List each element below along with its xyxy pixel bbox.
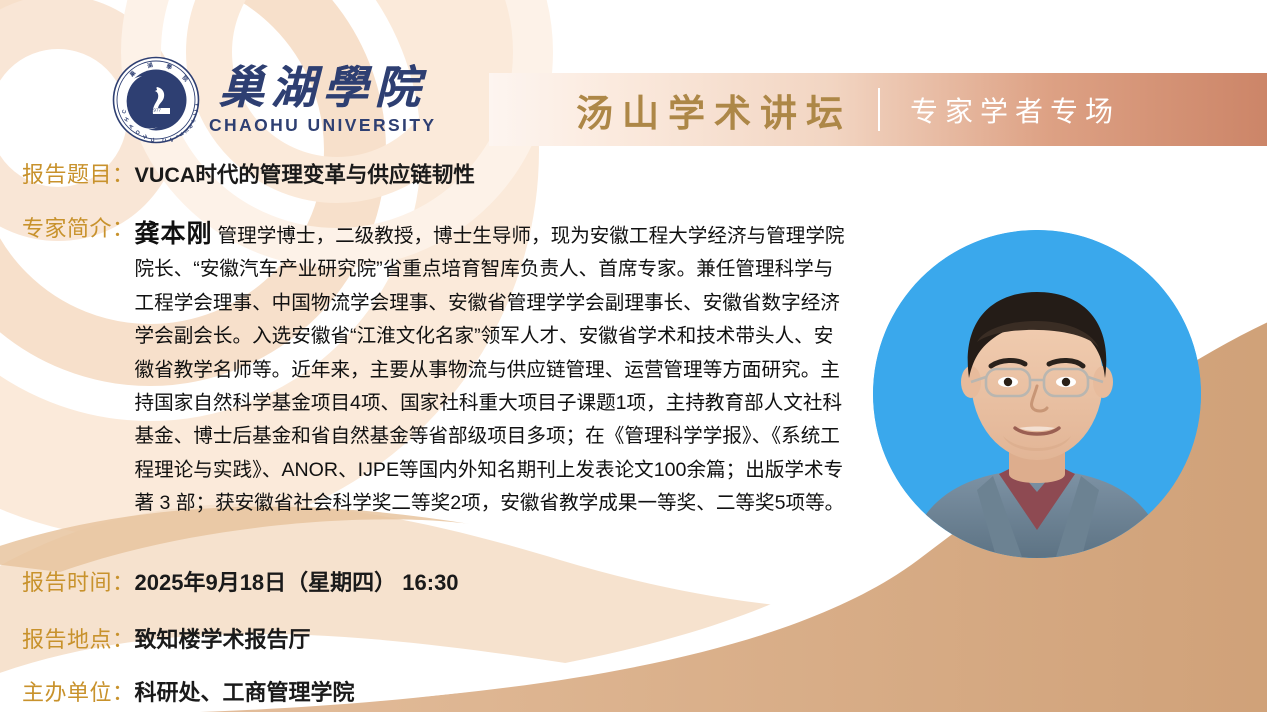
row-speaker-bio: 专家简介： 龚本刚管理学博士，二级教授，博士生导师，现为安徽工程大学经济与管理学… <box>22 214 852 521</box>
row-host-unit: 主办单位： 科研处、工商管理学院 <box>22 678 355 708</box>
host-unit-label: 主办单位： <box>22 678 135 708</box>
report-place-label: 报告地点： <box>22 625 135 655</box>
row-report-time: 报告时间： 2025年9月18日（星期四） 16:30 <box>22 568 459 598</box>
report-place-value: 致知楼学术报告厅 <box>135 625 311 655</box>
report-title-value: VUCA时代的管理变革与供应链韧性 <box>135 160 475 190</box>
speaker-portrait <box>873 230 1201 558</box>
speaker-bio-body: 龚本刚管理学博士，二级教授，博士生导师，现为安徽工程大学经济与管理学院院长、“安… <box>135 214 852 521</box>
row-report-title: 报告题目： VUCA时代的管理变革与供应链韧性 <box>22 160 475 190</box>
report-time-label: 报告时间： <box>22 568 135 598</box>
speaker-bio-text: 管理学博士，二级教授，博士生导师，现为安徽工程大学经济与管理学院院长、“安徽汽车… <box>135 225 845 514</box>
host-unit-value: 科研处、工商管理学院 <box>135 678 355 708</box>
speaker-name: 龚本刚 <box>135 220 213 248</box>
report-title-label: 报告题目： <box>22 160 135 190</box>
speaker-photo-illustration <box>873 230 1201 558</box>
poster-canvas: 1977 巢 湖 學 院 C H A O H U <box>0 0 1267 712</box>
report-time-value: 2025年9月18日（星期四） 16:30 <box>135 568 459 598</box>
speaker-bio-label: 专家简介： <box>22 214 135 244</box>
row-report-place: 报告地点： 致知楼学术报告厅 <box>22 625 311 655</box>
